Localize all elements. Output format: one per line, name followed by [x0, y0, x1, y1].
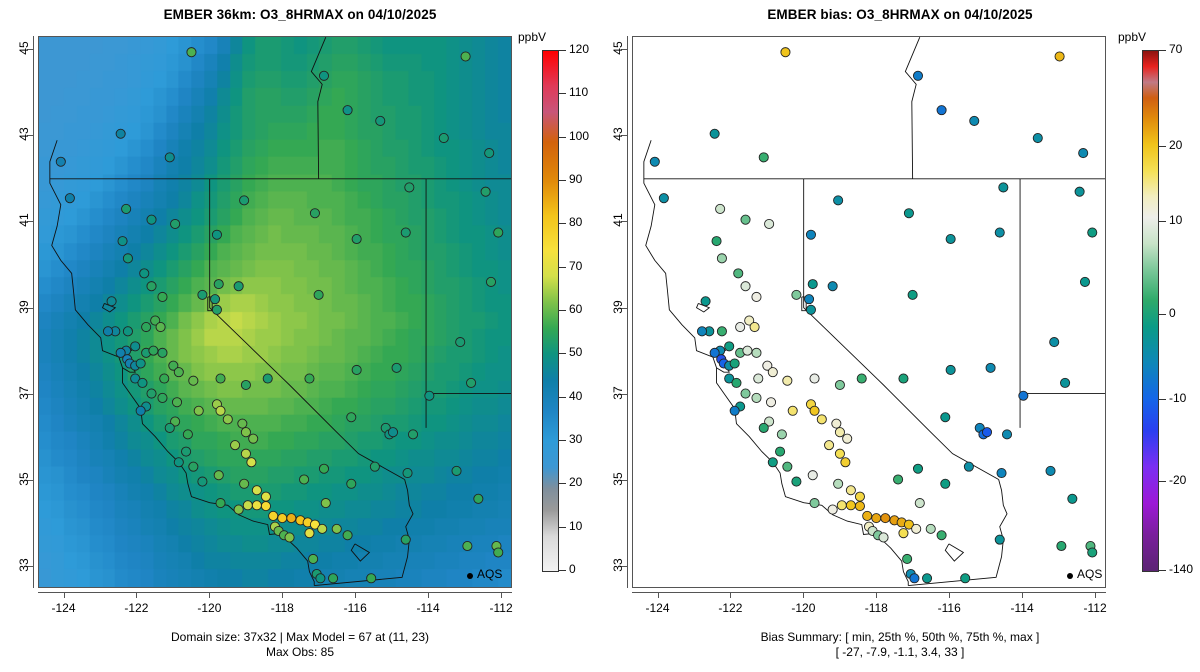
colorbar-tick [1159, 221, 1166, 222]
x-tick-label: -116 [919, 601, 979, 615]
x-axis-line [632, 592, 1106, 593]
colorbar-tick-label: 10 [1169, 213, 1182, 227]
bias-observation-points [633, 37, 1105, 587]
colorbar-tick [559, 223, 566, 224]
bias-map-boundaries [633, 37, 1105, 587]
aqs-legend-label-bias: AQS [1077, 567, 1102, 581]
colorbar-tick [559, 267, 566, 268]
y-axis-line [627, 36, 628, 588]
x-tick-label: -120 [179, 601, 239, 615]
colorbar-tick-label: 100 [569, 129, 589, 143]
x-tick [355, 592, 356, 598]
x-tick [1095, 592, 1096, 598]
colorbar-title: ppbV [1118, 30, 1146, 44]
x-tick [282, 592, 283, 598]
colorbar-title: ppbV [518, 30, 546, 44]
colorbar-tick-label: 120 [569, 42, 589, 56]
colorbar-tick-label: -140 [1169, 562, 1193, 576]
y-axis-line [33, 36, 34, 588]
bias-map-plot [632, 36, 1106, 588]
y-tick-label: 39 [611, 287, 625, 327]
panel-bias: EMBER bias: O3_8HRMAX on 04/10/2025 -124… [600, 0, 1200, 672]
colorbar-tick [559, 180, 566, 181]
y-tick-label: 41 [611, 200, 625, 240]
y-tick-label: 43 [17, 114, 31, 154]
x-tick-label: -118 [846, 601, 906, 615]
colorbar-tick [559, 137, 566, 138]
x-tick [803, 592, 804, 598]
y-tick-label: 45 [611, 28, 625, 68]
x-tick-label: -124 [34, 601, 94, 615]
y-tick-label: 39 [17, 287, 31, 327]
x-tick-label: -112 [1065, 601, 1125, 615]
colorbar-gradient [1142, 50, 1159, 572]
colorbar-tick [1159, 50, 1166, 51]
colorbar-tick-label: 10 [569, 519, 582, 533]
x-tick-label: -116 [325, 601, 385, 615]
y-tick-label: 37 [17, 373, 31, 413]
aqs-legend-dot [467, 573, 473, 579]
colorbar-tick-label: 60 [569, 302, 582, 316]
panel-model-title: EMBER 36km: O3_8HRMAX on 04/10/2025 [0, 7, 600, 22]
colorbar-tick-label: 110 [569, 85, 588, 99]
colorbar-tick-label: 50 [569, 345, 582, 359]
colorbar-tick [559, 93, 566, 94]
panel-bias-title: EMBER bias: O3_8HRMAX on 04/10/2025 [600, 7, 1200, 22]
x-tick-label: -114 [992, 601, 1052, 615]
x-tick-label: -122 [700, 601, 760, 615]
colorbar-tick [559, 570, 566, 571]
colorbar-tick-label: 70 [1169, 42, 1182, 56]
x-tick [64, 592, 65, 598]
panel-model: EMBER 36km: O3_8HRMAX on 04/10/2025 -124… [0, 0, 600, 672]
colorbar-tick [559, 527, 566, 528]
model-map-plot [38, 36, 512, 588]
aqs-legend-label: AQS [477, 567, 502, 581]
x-tick-label: -112 [471, 601, 531, 615]
x-tick [949, 592, 950, 598]
x-tick-label: -120 [773, 601, 833, 615]
colorbar-tick-label: 90 [569, 172, 582, 186]
colorbar-tick [1159, 399, 1166, 400]
y-tick-label: 37 [611, 373, 625, 413]
x-tick-label: -114 [398, 601, 458, 615]
x-tick [658, 592, 659, 598]
x-tick [1022, 592, 1023, 598]
y-tick-label: 43 [611, 114, 625, 154]
x-tick [428, 592, 429, 598]
model-caption-line1: Domain size: 37x32 | Max Model = 67 at (… [0, 630, 600, 645]
colorbar-tick-label: 0 [1169, 306, 1176, 320]
y-tick-label: 35 [17, 459, 31, 499]
x-axis-line [38, 592, 512, 593]
x-tick-label: -124 [628, 601, 688, 615]
bias-caption-line1: Bias Summary: [ min, 25th %, 50th %, 75t… [600, 630, 1200, 645]
colorbar-tick-label: 40 [569, 389, 582, 403]
colorbar-tick-label: 30 [569, 432, 582, 446]
colorbar-tick [559, 483, 566, 484]
colorbar-tick-label: 20 [569, 475, 582, 489]
colorbar-tick-label: 80 [569, 215, 582, 229]
bias-caption-line2: [ -27, -7.9, -1.1, 3.4, 33 ] [600, 645, 1200, 660]
colorbar-tick-label: -10 [1169, 391, 1186, 405]
colorbar-tick [1159, 314, 1166, 315]
x-tick [209, 592, 210, 598]
figure-root: EMBER 36km: O3_8HRMAX on 04/10/2025 -124… [0, 0, 1200, 672]
colorbar-tick [1159, 570, 1166, 571]
colorbar-tick [559, 50, 566, 51]
x-tick [730, 592, 731, 598]
colorbar-tick-label: -20 [1169, 473, 1186, 487]
model-caption-line2: Max Obs: 85 [0, 645, 600, 660]
colorbar-tick [1159, 146, 1166, 147]
y-tick-label: 45 [17, 28, 31, 68]
colorbar-tick [1159, 481, 1166, 482]
colorbar-tick-label: 20 [1169, 138, 1182, 152]
colorbar-tick [559, 397, 566, 398]
x-tick [136, 592, 137, 598]
x-tick [876, 592, 877, 598]
y-tick-label: 33 [17, 545, 31, 585]
y-tick-label: 41 [17, 200, 31, 240]
x-tick [501, 592, 502, 598]
x-tick-label: -122 [106, 601, 166, 615]
model-grid-raster [39, 37, 511, 587]
colorbar-tick-label: 70 [569, 259, 582, 273]
colorbar-gradient [542, 50, 559, 572]
colorbar-tick [559, 440, 566, 441]
colorbar-tick-label: 0 [569, 562, 576, 576]
aqs-legend-dot-bias [1067, 573, 1073, 579]
y-tick-label: 35 [611, 459, 625, 499]
colorbar-tick [559, 353, 566, 354]
colorbar-tick [559, 310, 566, 311]
x-tick-label: -118 [252, 601, 312, 615]
y-tick-label: 33 [611, 545, 625, 585]
